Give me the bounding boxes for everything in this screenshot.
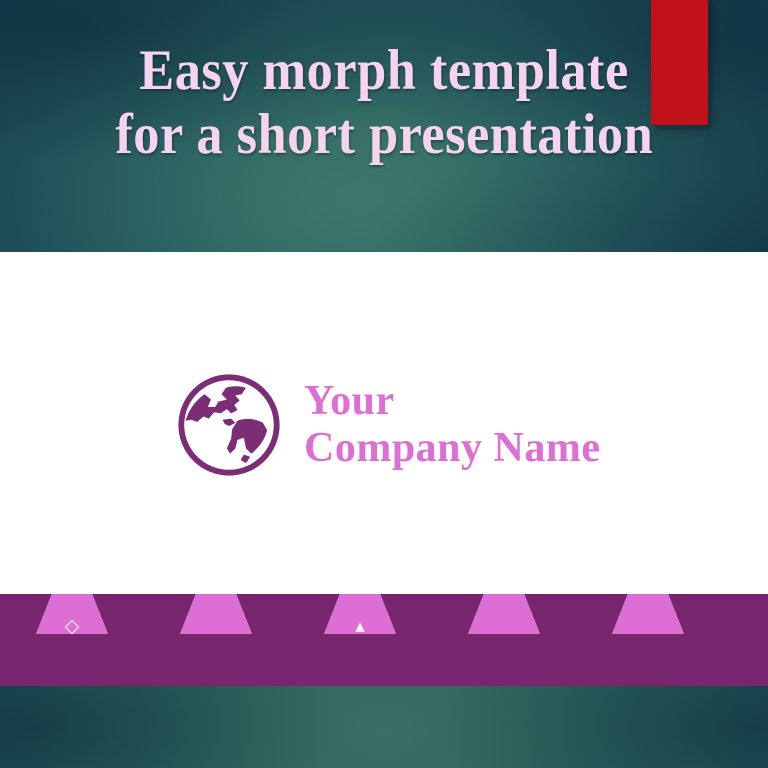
hexagon-tile-light [612,594,684,634]
footer-background-band [0,686,768,768]
hexagon-tile-icon: ◇ [65,617,80,636]
hexagon-tile-light: ◇ [36,594,108,634]
hexagon-tile-dark [252,594,324,634]
presentation-slide: Easy morph template for a short presenta… [0,0,768,768]
company-name-line-2: Company Name [304,425,601,472]
slide-title-block: Easy morph template for a short presenta… [0,0,768,252]
hexagon-tile-dark [396,594,468,634]
hexagon-tile-row: ◇▴ [0,594,768,634]
slide-title-line-1: Easy morph template [139,39,628,103]
slide-title-line-2: for a short presentation [115,103,653,167]
hexagon-tile-dark [540,594,612,634]
company-name-text: Your Company Name [304,378,601,472]
hexagon-tile-icon: ▴ [355,617,365,636]
hexagon-tile-dark [0,594,36,634]
hexagon-divider-band: ◇▴ [0,594,768,686]
hexagon-tile-dark [108,594,180,634]
hexagon-tile-light [468,594,540,634]
globe-icon [176,372,282,478]
company-name-line-1: Your [304,378,601,425]
hexagon-tile-light: ▴ [324,594,396,634]
hexagon-tile-dark [684,594,756,634]
company-logo-lockup: Your Company Name [176,372,601,478]
hexagon-tile-light [180,594,252,634]
